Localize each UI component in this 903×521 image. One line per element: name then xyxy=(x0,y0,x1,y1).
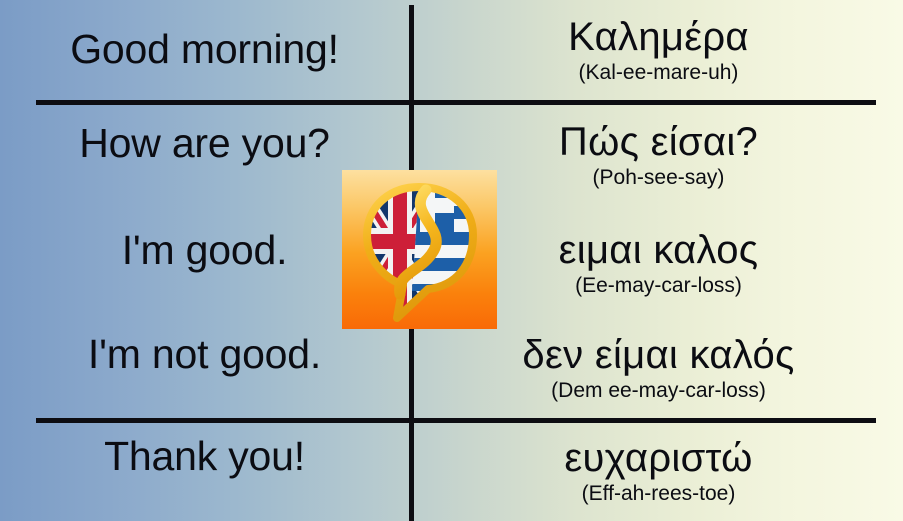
english-cell-1: Good morning! xyxy=(0,0,409,100)
english-phrase: How are you? xyxy=(79,122,330,165)
greek-pronunciation: (Ee-may-car-loss) xyxy=(575,274,742,297)
greek-phrase: ειμαι καλος xyxy=(559,229,759,271)
greek-cell-1: Καλημέρα (Kal-ee-mare-uh) xyxy=(414,0,903,100)
greek-pronunciation: (Eff-ah-rees-toe) xyxy=(582,482,736,505)
english-phrase: I'm not good. xyxy=(88,333,321,376)
greek-pronunciation: (Dem ee-may-car-loss) xyxy=(551,379,766,402)
english-phrase: Good morning! xyxy=(70,28,339,71)
greek-phrase: Πώς είσαι? xyxy=(559,121,758,163)
greek-pronunciation: (Kal-ee-mare-uh) xyxy=(579,61,739,84)
row-divider-2 xyxy=(36,418,876,423)
row-divider-1 xyxy=(36,100,876,105)
english-cell-4: I'm not good. xyxy=(0,320,409,390)
greek-phrase: Καλημέρα xyxy=(568,16,749,58)
greek-pronunciation: (Poh-see-say) xyxy=(593,166,725,189)
phrase-poster: Good morning! Καλημέρα (Kal-ee-mare-uh) … xyxy=(0,0,903,521)
english-greek-translation-logo xyxy=(342,170,497,329)
english-phrase: I'm good. xyxy=(122,229,288,272)
english-cell-5: Thank you! xyxy=(0,421,409,493)
english-phrase: Thank you! xyxy=(104,435,305,478)
greek-phrase: δεν είμαι καλός xyxy=(522,334,794,376)
greek-cell-5: ευχαριστώ (Eff-ah-rees-toe) xyxy=(414,421,903,521)
greek-cell-4: δεν είμαι καλός (Dem ee-may-car-loss) xyxy=(414,318,903,418)
greek-phrase: ευχαριστώ xyxy=(564,437,752,479)
